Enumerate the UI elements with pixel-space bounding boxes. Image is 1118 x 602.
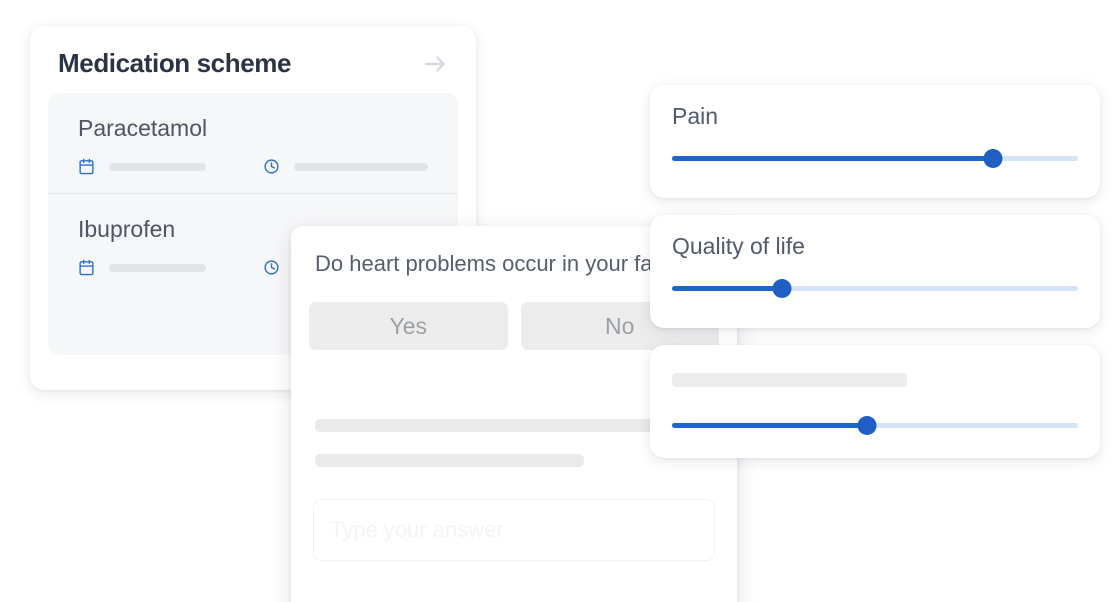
slider-thumb[interactable] [772, 279, 791, 298]
slider-fill [672, 423, 867, 428]
slider-label: Pain [672, 103, 1078, 130]
quality-of-life-slider-card: Quality of life [650, 215, 1100, 328]
pain-slider[interactable] [672, 150, 1078, 168]
medication-date-group [78, 259, 263, 276]
medication-name: Paracetamol [78, 115, 428, 142]
calendar-icon [78, 259, 95, 276]
slider-thumb[interactable] [857, 416, 876, 435]
clock-icon [263, 259, 280, 276]
slider-label: Quality of life [672, 233, 1078, 260]
slider-fill [672, 286, 782, 291]
medication-card-header: Medication scheme [30, 26, 476, 93]
medication-date-group [78, 158, 263, 175]
skeleton-line [315, 419, 692, 432]
third-slider-card [650, 345, 1100, 458]
medication-row[interactable]: Paracetamol [48, 93, 458, 193]
medication-time-group [263, 158, 428, 175]
quality-of-life-slider[interactable] [672, 280, 1078, 298]
medication-meta [78, 158, 428, 175]
calendar-icon [78, 158, 95, 175]
medication-time-placeholder [294, 163, 428, 171]
screen: Medication scheme Paracetamol [0, 0, 1118, 602]
slider-fill [672, 156, 993, 161]
skeleton-line [315, 454, 584, 467]
arrow-right-icon[interactable] [422, 51, 448, 77]
slider-label-skeleton [672, 373, 907, 387]
third-slider[interactable] [672, 417, 1078, 435]
answer-yes-button[interactable]: Yes [309, 302, 508, 350]
slider-thumb[interactable] [983, 149, 1002, 168]
answer-input[interactable]: Type your answer [313, 499, 715, 561]
page-title: Medication scheme [58, 48, 291, 79]
medication-date-placeholder [109, 163, 206, 171]
pain-slider-card: Pain [650, 85, 1100, 198]
medication-date-placeholder [109, 264, 206, 272]
clock-icon [263, 158, 280, 175]
